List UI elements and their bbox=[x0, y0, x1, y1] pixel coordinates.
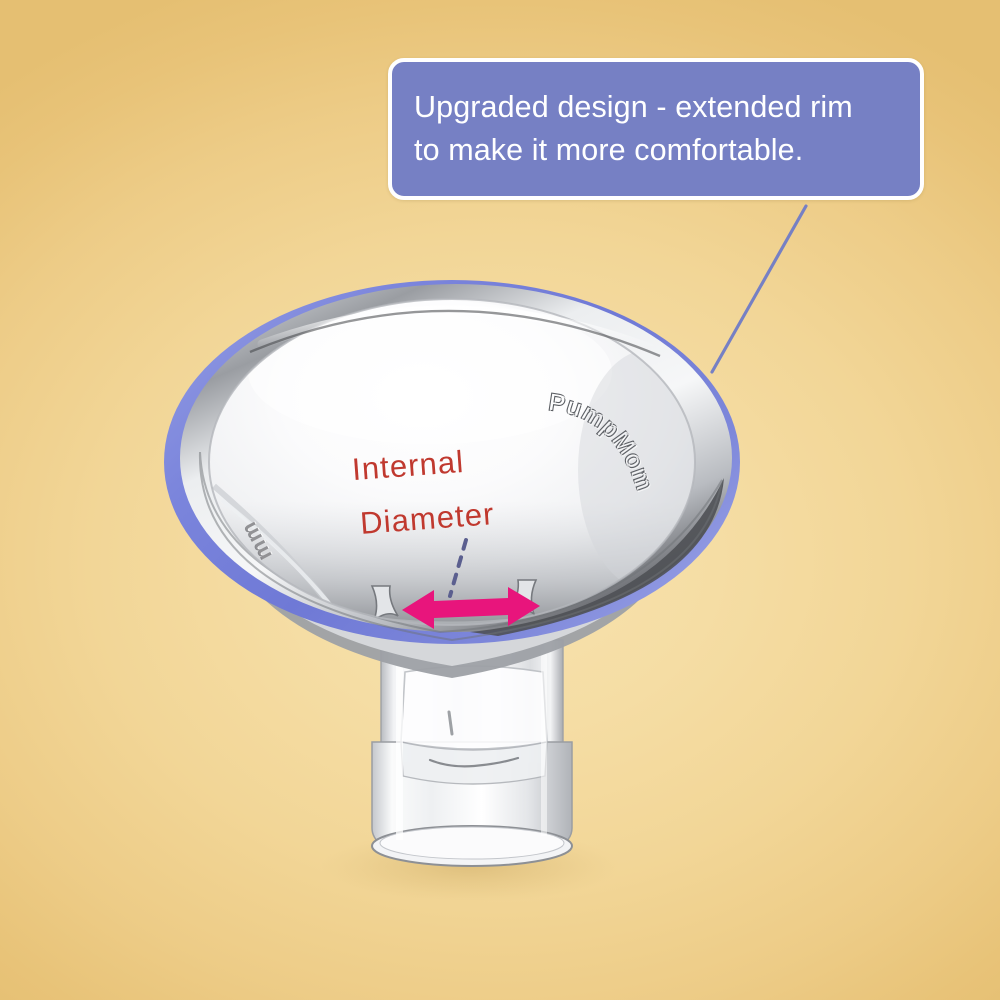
brand-emboss: PumpMom PumpMom bbox=[540, 392, 670, 542]
dashed-leader-line bbox=[450, 540, 466, 596]
callout-box: Upgraded design - extended rim to make i… bbox=[388, 58, 924, 200]
product-shadow bbox=[320, 830, 620, 902]
connector-stem bbox=[372, 640, 572, 866]
measurement-arrow bbox=[402, 587, 540, 629]
callout-text: Upgraded design - extended rim to make i… bbox=[414, 86, 853, 173]
callout-leader-line bbox=[712, 206, 806, 372]
size-emboss: mm bbox=[235, 517, 277, 566]
infographic-canvas: PumpMom PumpMom mm Internal Diameter Upg… bbox=[0, 0, 1000, 1000]
internal-diameter-label-line2: Diameter bbox=[359, 498, 495, 539]
svg-text:PumpMom: PumpMom bbox=[548, 392, 660, 496]
internal-diameter-label-line1: Internal bbox=[351, 446, 465, 485]
